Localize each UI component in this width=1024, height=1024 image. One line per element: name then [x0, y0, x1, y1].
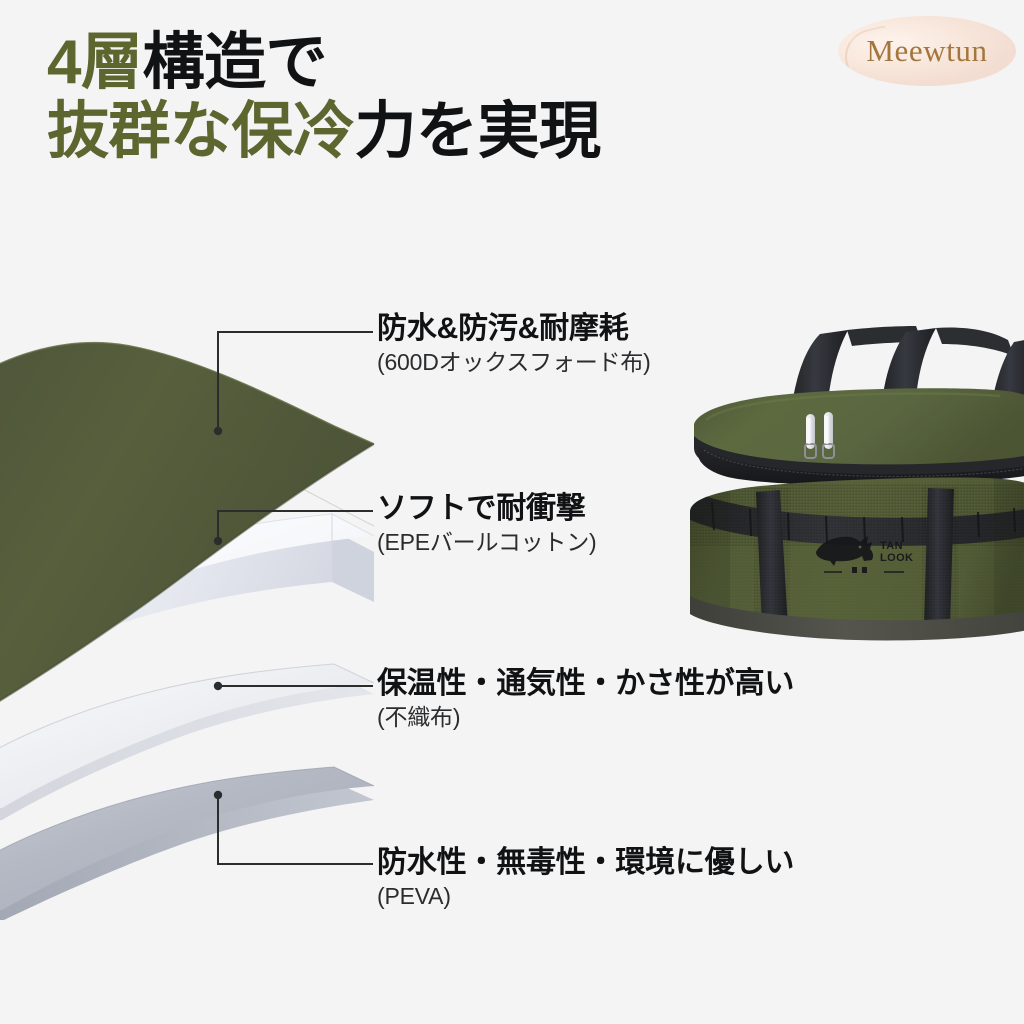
product-image-cooler-bag: TAN LOOK — [684, 316, 1024, 646]
headline-line-1: 4層構造で — [47, 28, 747, 97]
callout-1-subtitle: (600Dオックスフォード布) — [377, 348, 651, 376]
callout-layer-2: ソフトで耐衝撃 (EPEバールコットン) — [377, 491, 596, 556]
brand-name: Meewtun — [866, 33, 987, 69]
svg-text:LOOK: LOOK — [880, 552, 913, 564]
svg-text:TAN: TAN — [880, 540, 903, 552]
callout-4-subtitle: (PEVA) — [377, 882, 794, 910]
callout-3-title: 保温性・通気性・かさ性が高い — [377, 666, 794, 701]
headline-line-2: 抜群な保冷力を実現 — [47, 97, 747, 166]
callout-layer-3: 保温性・通気性・かさ性が高い (不織布) — [377, 666, 794, 731]
callout-2-subtitle: (EPEバールコットン) — [377, 528, 596, 556]
callout-3-subtitle: (不織布) — [377, 703, 794, 731]
callout-layer-4: 防水性・無毒性・環境に優しい (PEVA) — [377, 845, 794, 910]
callout-layer-1: 防水&防汚&耐摩耗 (600Dオックスフォード布) — [377, 311, 651, 376]
exploded-layers-illustration — [0, 330, 402, 920]
callout-4-title: 防水性・無毒性・環境に優しい — [377, 845, 794, 880]
headline-dark-1: 構造で — [142, 28, 327, 97]
infographic-canvas: 4層構造で 抜群な保冷力を実現 Meewtun — [0, 0, 1024, 1024]
headline-accent-1: 4層 — [47, 28, 142, 97]
callout-1-title: 防水&防汚&耐摩耗 — [377, 311, 651, 346]
brand-logo-badge: Meewtun — [838, 16, 1016, 86]
headline-accent-2: 抜群な保冷 — [47, 97, 355, 166]
callout-2-title: ソフトで耐衝撃 — [377, 491, 596, 526]
headline-dark-2: 力を実現 — [355, 97, 601, 166]
page-title: 4層構造で 抜群な保冷力を実現 — [47, 28, 747, 167]
